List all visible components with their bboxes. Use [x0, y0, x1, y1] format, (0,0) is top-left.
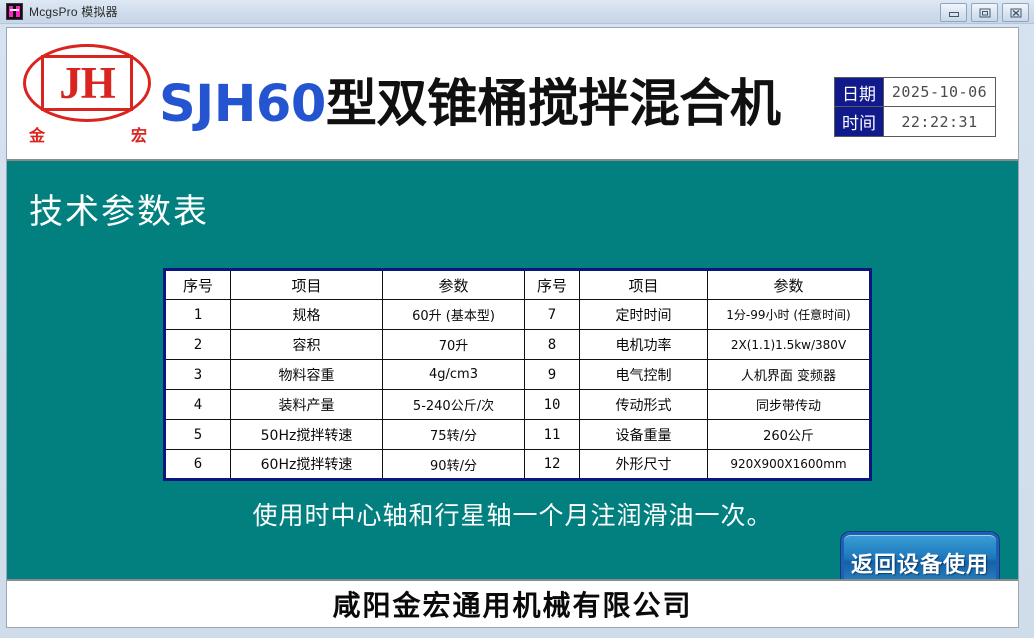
cell-value-right: 920X900X1600mm: [708, 450, 871, 480]
cell-value-right: 2X(1.1)1.5kw/380V: [708, 330, 871, 360]
page-title: SJH60型双锥桶搅拌混合机: [159, 74, 780, 136]
column-header-value-right: 参数: [708, 270, 871, 300]
logo-subtext-left: 金: [29, 122, 45, 146]
main-content-panel: 技术参数表 序号 项目 参数 序号 项目 参数: [7, 159, 1018, 579]
date-value: 2025-10-06: [883, 78, 995, 107]
cell-value-right: 1分-99小时 (任意时间): [708, 300, 871, 330]
cell-item-left: 规格: [231, 300, 383, 330]
cell-value-right: 260公斤: [708, 420, 871, 450]
cell-value-left: 90转/分: [383, 450, 525, 480]
table-row: 6 60Hz搅拌转速 90转/分 12 外形尺寸 920X900X1600mm: [165, 450, 871, 480]
cell-item-right: 传动形式: [580, 390, 708, 420]
date-label: 日期: [835, 78, 883, 107]
time-label: 时间: [835, 107, 883, 136]
company-logo-icon: JH 金 宏: [21, 42, 156, 146]
cell-item-right: 电气控制: [580, 360, 708, 390]
column-header-index-right: 序号: [525, 270, 580, 300]
column-header-index-left: 序号: [165, 270, 231, 300]
return-to-equipment-button[interactable]: 返回设备使用: [841, 532, 999, 579]
column-header-item-right: 项目: [580, 270, 708, 300]
page-title-rest: 型双锥桶搅拌混合机: [326, 75, 781, 134]
logo-letters: JH: [41, 54, 133, 112]
cell-item-right: 定时时间: [580, 300, 708, 330]
maintenance-note: 使用时中心轴和行星轴一个月注润滑油一次。: [7, 496, 1018, 532]
cell-index-left: 1: [165, 300, 231, 330]
table-row: 5 50Hz搅拌转速 75转/分 11 设备重量 260公斤: [165, 420, 871, 450]
window-title: McgsPro 模拟器: [29, 3, 118, 20]
logo-subtext: 金 宏: [29, 122, 147, 146]
cell-item-left: 60Hz搅拌转速: [231, 450, 383, 480]
cell-index-right: 10: [525, 390, 580, 420]
header-band: JH 金 宏 SJH60型双锥桶搅拌混合机 日期 2025-10-06 时间 2…: [7, 28, 1018, 159]
cell-index-left: 3: [165, 360, 231, 390]
return-button-label: 返回设备使用: [851, 547, 989, 579]
column-header-item-left: 项目: [231, 270, 383, 300]
table-row: 1 规格 60升 (基本型) 7 定时时间 1分-99小时 (任意时间): [165, 300, 871, 330]
cell-value-left: 70升: [383, 330, 525, 360]
cell-item-left: 物料容重: [231, 360, 383, 390]
cell-index-left: 2: [165, 330, 231, 360]
cell-index-left: 4: [165, 390, 231, 420]
datetime-panel: 日期 2025-10-06 时间 22:22:31: [834, 77, 996, 137]
page-title-model: SJH60: [159, 75, 326, 134]
cell-item-right: 外形尺寸: [580, 450, 708, 480]
cell-value-right: 人机界面 变频器: [708, 360, 871, 390]
cell-value-left: 60升 (基本型): [383, 300, 525, 330]
table-row: 3 物料容重 4g/cm3 9 电气控制 人机界面 变频器: [165, 360, 871, 390]
application-window: McgsPro 模拟器: [0, 0, 1034, 638]
cell-index-right: 8: [525, 330, 580, 360]
close-icon[interactable]: [1002, 3, 1029, 22]
window-controls: [940, 3, 1029, 22]
minimize-icon[interactable]: [940, 3, 967, 22]
column-header-value-left: 参数: [383, 270, 525, 300]
company-name: 咸阳金宏通用机械有限公司: [332, 584, 692, 624]
cell-index-right: 9: [525, 360, 580, 390]
cell-index-left: 5: [165, 420, 231, 450]
cell-value-left: 4g/cm3: [383, 360, 525, 390]
cell-item-right: 设备重量: [580, 420, 708, 450]
table-row: 2 容积 70升 8 电机功率 2X(1.1)1.5kw/380V: [165, 330, 871, 360]
footer-band: 咸阳金宏通用机械有限公司: [7, 579, 1018, 627]
cell-item-left: 50Hz搅拌转速: [231, 420, 383, 450]
cell-index-right: 12: [525, 450, 580, 480]
technical-spec-table: 序号 项目 参数 序号 项目 参数 1 规格 60升 (基本型) 7 定时时间: [163, 268, 872, 481]
cell-item-left: 容积: [231, 330, 383, 360]
logo-subtext-right: 宏: [131, 122, 147, 146]
cell-index-right: 7: [525, 300, 580, 330]
cell-item-right: 电机功率: [580, 330, 708, 360]
cell-index-right: 11: [525, 420, 580, 450]
cell-value-right: 同步带传动: [708, 390, 871, 420]
cell-index-left: 6: [165, 450, 231, 480]
table-row: 4 装料产量 5-240公斤/次 10 传动形式 同步带传动: [165, 390, 871, 420]
cell-item-left: 装料产量: [231, 390, 383, 420]
maximize-icon[interactable]: [971, 3, 998, 22]
section-title: 技术参数表: [29, 184, 209, 233]
cell-value-left: 75转/分: [383, 420, 525, 450]
time-value: 22:22:31: [883, 107, 995, 136]
cell-value-left: 5-240公斤/次: [383, 390, 525, 420]
mcgs-app-icon: [6, 3, 23, 20]
hmi-client-area: JH 金 宏 SJH60型双锥桶搅拌混合机 日期 2025-10-06 时间 2…: [6, 27, 1019, 628]
table-header-row: 序号 项目 参数 序号 项目 参数: [165, 270, 871, 300]
window-titlebar: McgsPro 模拟器: [0, 0, 1034, 24]
